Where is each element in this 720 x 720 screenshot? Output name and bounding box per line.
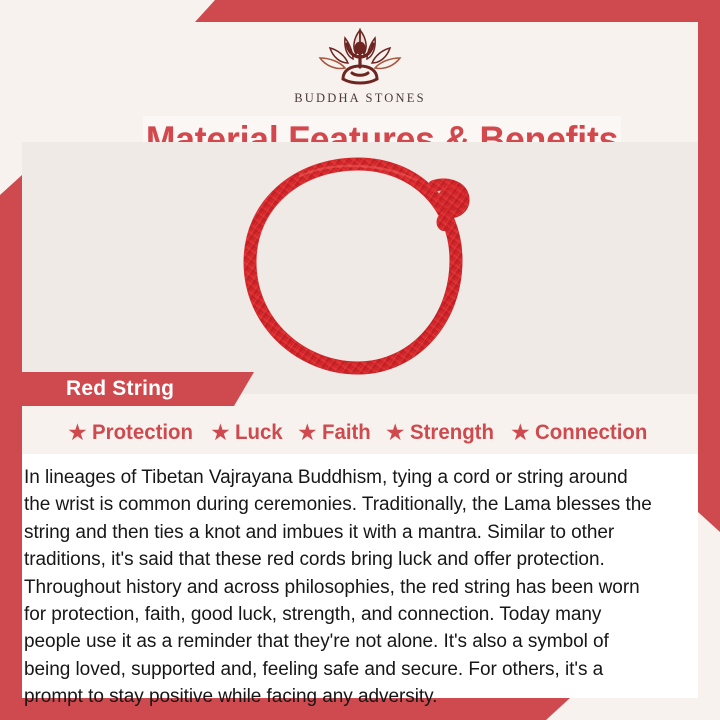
brand-logo: BUDDHA STONES <box>294 26 426 106</box>
star-icon: ★ <box>67 421 88 444</box>
decor-band-left <box>0 175 22 702</box>
feature-label: Protection <box>92 420 193 445</box>
feature-label: Connection <box>535 420 647 445</box>
description-text: In lineages of Tibetan Vajrayana Buddhis… <box>24 464 658 711</box>
star-icon: ★ <box>297 421 318 444</box>
poster-surface: BUDDHA STONES Material Features & Benefi… <box>22 22 698 698</box>
feature-item-luck: ★ Luck <box>210 420 285 445</box>
feature-item-strength: ★ Strength <box>385 420 498 445</box>
star-icon: ★ <box>385 421 406 444</box>
red-braided-cord-bracelet-icon <box>220 150 500 386</box>
feature-list: ★ Protection ★ Luck ★ Faith ★ Strength ★… <box>22 412 698 452</box>
feature-label: Luck <box>235 420 283 445</box>
decor-band-right <box>698 22 720 532</box>
lotus-meditation-icon <box>312 26 408 88</box>
feature-label: Strength <box>410 420 494 445</box>
product-label-ribbon: Red String <box>22 372 254 406</box>
infographic-poster: BUDDHA STONES Material Features & Benefi… <box>0 0 720 720</box>
star-icon: ★ <box>210 421 231 444</box>
feature-item-faith: ★ Faith <box>297 420 373 445</box>
brand-name: BUDDHA STONES <box>294 91 426 106</box>
feature-item-protection: ★ Protection <box>67 420 198 445</box>
feature-item-connection: ★ Connection <box>510 420 653 445</box>
product-photo <box>22 142 698 394</box>
feature-label: Faith <box>322 420 371 445</box>
product-label: Red String <box>66 377 174 401</box>
star-icon: ★ <box>510 421 531 444</box>
decor-band-top <box>195 0 720 22</box>
description-panel: In lineages of Tibetan Vajrayana Buddhis… <box>22 454 698 698</box>
